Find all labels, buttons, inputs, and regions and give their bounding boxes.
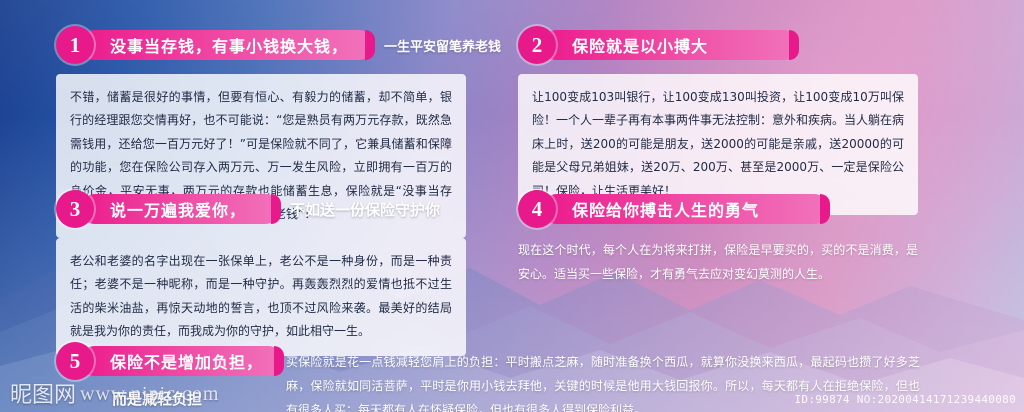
block-2-number: 2 [518,26,556,64]
block-5-number: 5 [56,342,94,380]
block-4-bar-tail [820,194,830,224]
block-2-title: 保险就是以小搏大 [572,33,708,57]
content-block-4: 4 保险给你搏击人生的勇气 现在这个时代，每个人在为将来打拼，保险是早要买的，买… [518,190,918,286]
block-1-subtitle: 一生平安留笔养老钱 [384,36,501,55]
block-3-header: 3 说一万遍我爱你， 不如送一份保险守护你 [56,190,466,228]
block-5-bar-tail [274,346,284,376]
block-2-bar-tail [789,30,799,60]
block-3-body: 老公和老婆的名字出现在一张保单上，老公不是一种身份，而是一种责任；老婆不是一种昵… [56,238,466,356]
image-id-label: ID:99874 NO:20200414171239440080 [794,393,1016,406]
block-4-title-bar: 保险给你搏击人生的勇气 [542,194,829,224]
block-4-title: 保险给你搏击人生的勇气 [572,197,759,221]
block-1-number: 1 [56,26,94,64]
block-4-header: 4 保险给你搏击人生的勇气 [518,190,918,228]
block-5-title: 保险不是增加负担， [110,349,263,373]
content-block-2: 2 保险就是以小搏大 让100变成103叫银行，让100变成130叫投资，让10… [518,26,918,215]
block-2-header: 2 保险就是以小搏大 [518,26,918,64]
block-3-number: 3 [56,190,94,228]
block-2-title-bar: 保险就是以小搏大 [542,30,798,60]
block-3-subtitle: 不如送一份保险守护你 [290,199,440,220]
block-4-number: 4 [518,190,556,228]
block-1-header: 1 没事当存钱，有事小钱换大钱， 一生平安留笔养老钱 [56,26,466,64]
content-block-3: 3 说一万遍我爱你， 不如送一份保险守护你 老公和老婆的名字出现在一张保单上，老… [56,190,466,356]
poster-canvas: 1 没事当存钱，有事小钱换大钱， 一生平安留笔养老钱 不错，储蓄是很好的事情，但… [0,0,1024,412]
block-3-title-bar: 说一万遍我爱你， [80,194,280,224]
block-1-title: 没事当存钱，有事小钱换大钱， [110,33,348,57]
block-5-title-bar: 保险不是增加负担， [80,346,283,376]
block-3-title: 说一万遍我爱你， [110,197,246,221]
block-4-body: 现在这个时代，每个人在为将来打拼，保险是早要买的，买的不是消费，是安心。适当买一… [518,238,918,286]
block-1-bar-tail [365,30,375,60]
block-1-title-bar: 没事当存钱，有事小钱换大钱， [80,30,374,60]
block-3-bar-tail [271,194,281,224]
